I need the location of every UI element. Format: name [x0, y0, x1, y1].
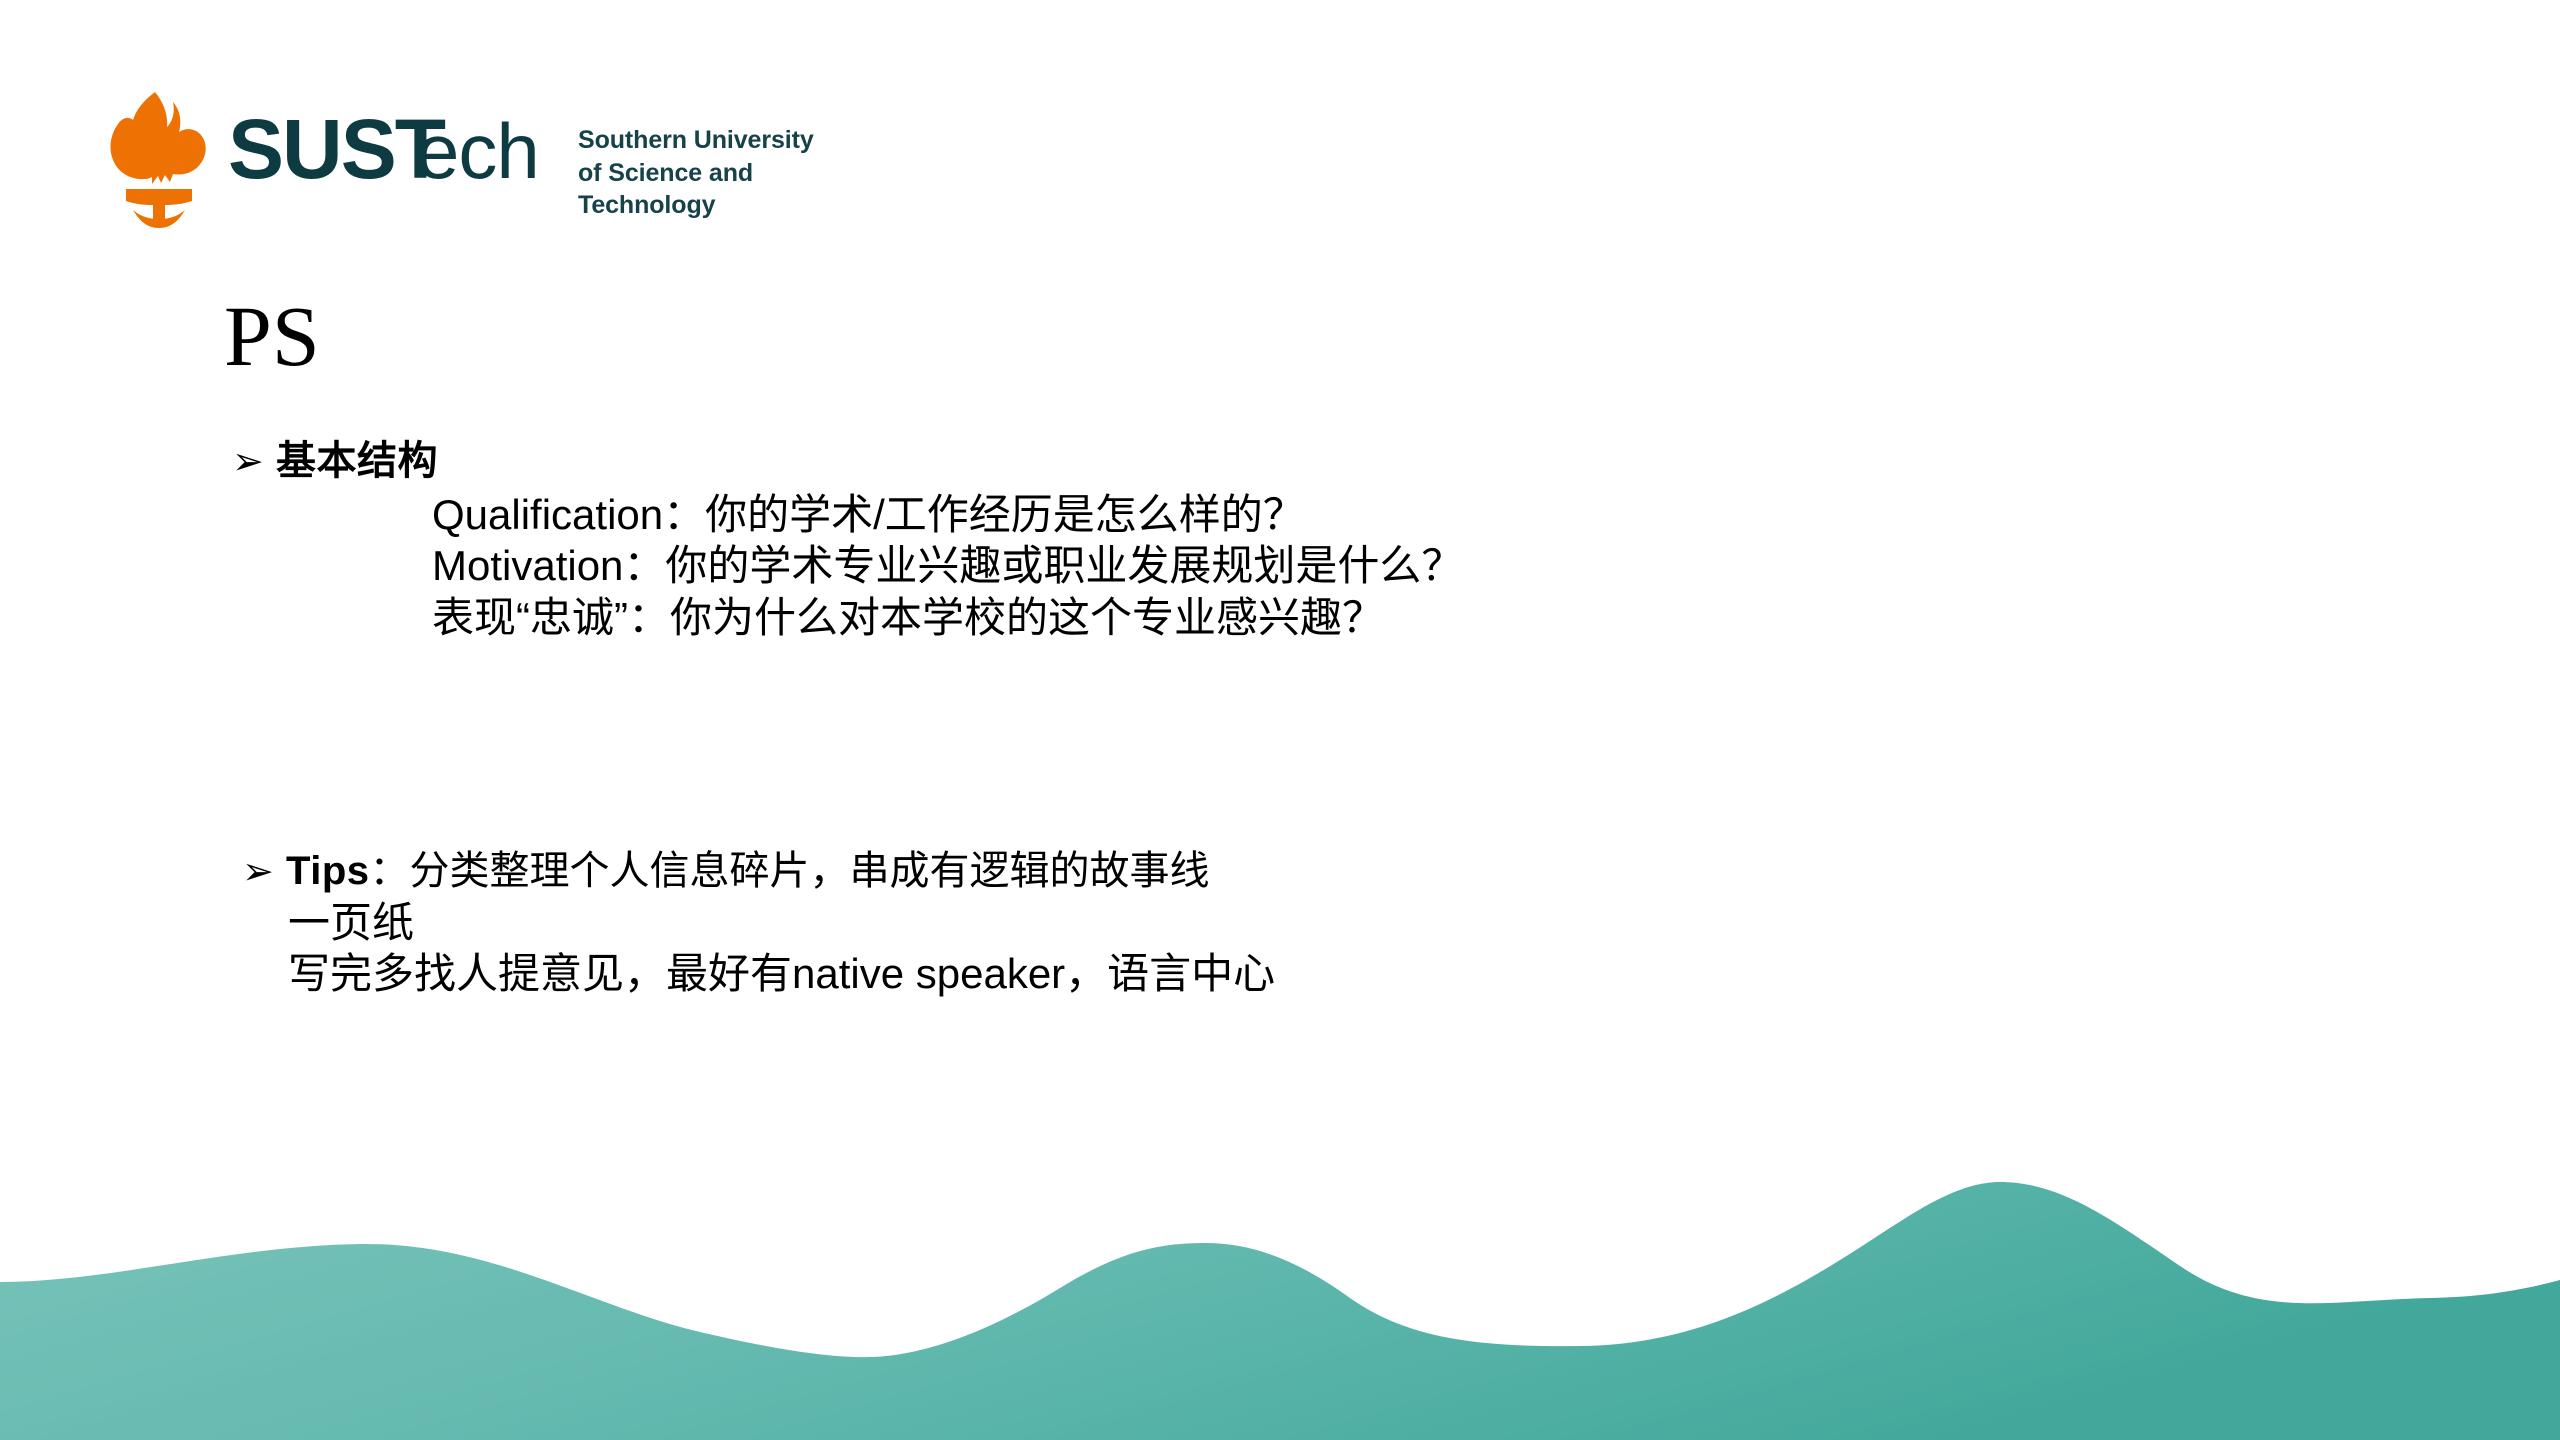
tips-sub-lines: 一页纸 写完多找人提意见，最好有native speaker，语言中心	[288, 897, 1275, 999]
tagline-line-2: of Science and	[578, 157, 814, 190]
structure-line-loyalty: 表现“忠诚”：你为什么对本学校的这个专业感兴趣？	[432, 592, 1463, 643]
bullet-heading-structure: ➢ 基本结构	[232, 438, 1463, 485]
bottom-wave-decoration	[0, 1120, 2560, 1440]
logo-tagline: Southern University of Science and Techn…	[578, 124, 814, 222]
bullet-heading-tips: ➢ Tips ：分类整理个人信息碎片，串成有逻辑的故事线	[242, 848, 1275, 895]
bullet-title-structure: 基本结构	[276, 438, 438, 485]
page-title: PS	[224, 293, 320, 379]
arrow-bullet-icon: ➢	[232, 443, 276, 481]
torch-flame-icon	[100, 90, 218, 230]
svg-text:ech: ech	[416, 110, 539, 195]
tagline-line-3: Technology	[578, 189, 814, 222]
sustech-logo: SUST ech Southern University of Science …	[100, 88, 814, 230]
tagline-line-1: Southern University	[578, 124, 814, 157]
arrow-bullet-icon: ➢	[242, 853, 286, 891]
sustech-wordmark: SUST ech	[228, 110, 558, 200]
slide-canvas: SUST ech Southern University of Science …	[0, 0, 2560, 1440]
section-basic-structure: ➢ 基本结构 Qualification：你的学术/工作经历是怎么样的？ Mot…	[232, 438, 1463, 643]
tips-line-one-page: 一页纸	[288, 897, 1275, 948]
svg-text:SUST: SUST	[228, 110, 446, 196]
section-tips: ➢ Tips ：分类整理个人信息碎片，串成有逻辑的故事线 一页纸 写完多找人提意…	[242, 848, 1275, 1000]
structure-sub-lines: Qualification：你的学术/工作经历是怎么样的？ Motivation…	[432, 489, 1463, 643]
bullet-tips-description: ：分类整理个人信息碎片，串成有逻辑的故事线	[370, 848, 1210, 895]
bullet-title-tips: Tips	[286, 848, 370, 895]
structure-line-motivation: Motivation：你的学术专业兴趣或职业发展规划是什么？	[432, 540, 1463, 591]
structure-line-qualification: Qualification：你的学术/工作经历是怎么样的？	[432, 489, 1463, 540]
tips-line-review: 写完多找人提意见，最好有native speaker，语言中心	[288, 948, 1275, 999]
